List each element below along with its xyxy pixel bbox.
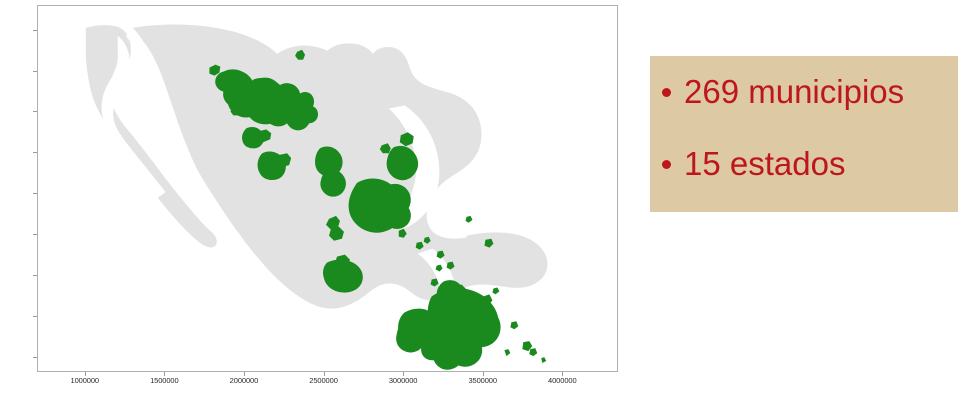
bullet-label-estados: 15 estados: [684, 144, 845, 184]
x-tick-label: 4000000: [548, 376, 577, 385]
slide-root: 2500005000007500001000000125000015000001…: [0, 0, 958, 405]
x-tick-mark: [403, 372, 404, 376]
bullet-dot-icon: [662, 88, 671, 97]
x-tick-mark: [164, 372, 165, 376]
x-tick-mark: [324, 372, 325, 376]
bullet-item-municipios: 269 municipios: [662, 72, 904, 112]
x-tick-mark: [483, 372, 484, 376]
x-tick-label: 1000000: [71, 376, 100, 385]
x-tick-label: 2000000: [230, 376, 259, 385]
x-tick-label: 3500000: [468, 376, 497, 385]
x-tick-mark: [244, 372, 245, 376]
bullet-dot-icon: [662, 160, 671, 169]
x-tick-mark: [562, 372, 563, 376]
map-figure: 2500005000007500001000000125000015000001…: [0, 0, 630, 405]
yucatan-peninsula: [455, 232, 547, 290]
bullet-label-municipios: 269 municipios: [684, 72, 904, 112]
bullet-item-estados: 15 estados: [662, 144, 845, 184]
x-tick-label: 3000000: [389, 376, 418, 385]
x-tick-mark: [85, 372, 86, 376]
plot-frame: [37, 5, 618, 372]
callout-box: 269 municipios 15 estados: [650, 56, 958, 212]
x-tick-label: 2500000: [309, 376, 338, 385]
mexico-map-svg: [38, 6, 617, 371]
x-tick-label: 1500000: [150, 376, 179, 385]
